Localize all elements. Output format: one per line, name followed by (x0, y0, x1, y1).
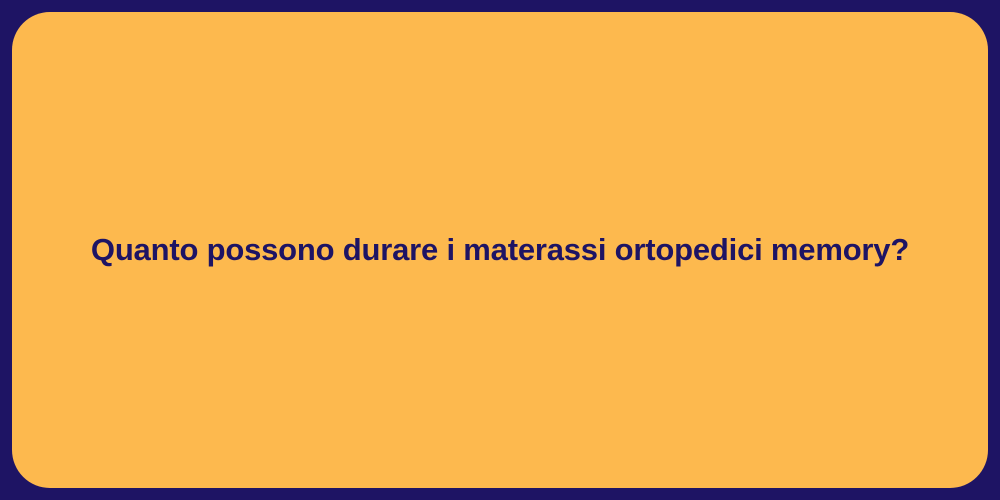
banner-frame: Quanto possono durare i materassi ortope… (0, 0, 1000, 500)
banner-heading: Quanto possono durare i materassi ortope… (91, 231, 909, 270)
banner-panel: Quanto possono durare i materassi ortope… (12, 12, 988, 488)
